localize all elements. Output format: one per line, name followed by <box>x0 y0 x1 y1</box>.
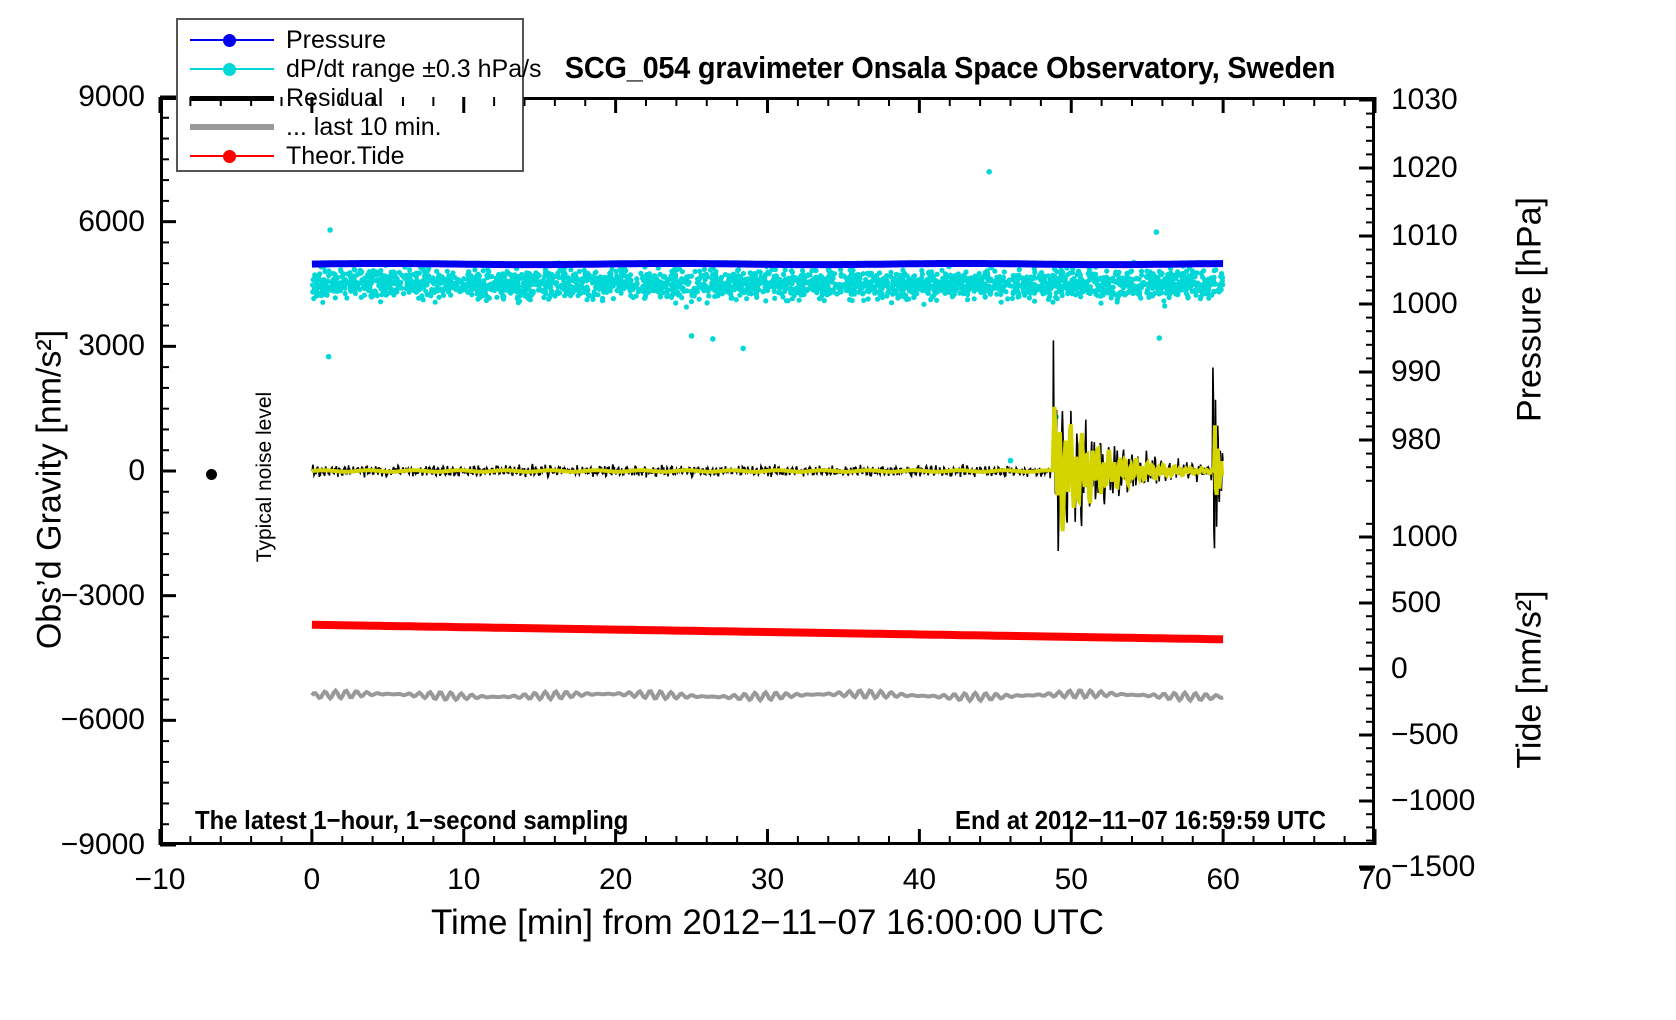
x-tick: 30 <box>708 865 828 895</box>
y-tick-tide: −1000 <box>1391 786 1475 816</box>
legend-item-last10[interactable]: ... last 10 min. <box>178 113 522 141</box>
y-tick-tide: 1000 <box>1391 522 1458 552</box>
y-tick-tide: −500 <box>1391 720 1459 750</box>
legend-swatch-theortide <box>178 142 286 170</box>
noise-level-annotation: Typical noise level <box>253 362 277 592</box>
x-tick: 0 <box>252 865 372 895</box>
x-tick: −10 <box>100 865 220 895</box>
legend-swatch-pressure <box>178 26 286 54</box>
legend-swatch-dpdt <box>178 55 286 83</box>
y-tick-pressure: 1020 <box>1391 153 1458 183</box>
y-tick-pressure: 1000 <box>1391 289 1458 319</box>
y-tick-left: 0 <box>0 456 145 486</box>
y-tick-pressure: 980 <box>1391 425 1441 455</box>
x-tick: 40 <box>859 865 979 895</box>
legend-label-dpdt: dP/dt range ±0.3 hPa/s <box>286 57 542 82</box>
legend: Pressure dP/dt range ±0.3 hPa/s Residual… <box>176 18 524 172</box>
y-tick-left: −6000 <box>0 705 145 735</box>
legend-item-pressure[interactable]: Pressure <box>178 26 522 54</box>
y-tick-pressure: 990 <box>1391 357 1441 387</box>
plot-frame <box>160 97 1375 845</box>
x-tick: 50 <box>1011 865 1131 895</box>
legend-swatch-residual <box>178 84 286 112</box>
x-tick: 10 <box>404 865 524 895</box>
y-tick-left: 9000 <box>0 82 145 112</box>
y-axis-left-label: Obs’d Gravity [nm/s²] <box>31 210 70 770</box>
legend-swatch-last10 <box>178 113 286 141</box>
y-tick-pressure: 1030 <box>1391 85 1458 115</box>
legend-label-theortide: Theor.Tide <box>286 144 405 169</box>
legend-label-last10: ... last 10 min. <box>286 115 442 140</box>
x-axis-label: Time [min] from 2012−11−07 16:00:00 UTC <box>160 903 1375 943</box>
legend-label-residual: Residual <box>286 86 383 111</box>
y-tick-tide: 0 <box>1391 654 1408 684</box>
x-tick: 70 <box>1315 865 1435 895</box>
end-time-note: End at 2012−11−07 16:59:59 UTC <box>955 805 1326 836</box>
legend-item-residual[interactable]: Residual <box>178 84 522 112</box>
y-tick-left: −3000 <box>0 581 145 611</box>
y-axis-tide-label: Tide [nm/s²] <box>1511 470 1550 890</box>
legend-label-pressure: Pressure <box>286 28 386 53</box>
x-tick: 20 <box>556 865 676 895</box>
legend-item-dpdt[interactable]: dP/dt range ±0.3 hPa/s <box>178 55 522 83</box>
legend-item-theortide[interactable]: Theor.Tide <box>178 142 522 170</box>
y-axis-pressure-label: Pressure [hPa] <box>1511 100 1550 520</box>
y-tick-pressure: 1010 <box>1391 221 1458 251</box>
y-tick-left: 3000 <box>0 331 145 361</box>
y-tick-tide: 500 <box>1391 588 1441 618</box>
y-tick-left: −9000 <box>0 830 145 860</box>
gravimeter-plot: SCG_054 gravimeter Onsala Space Observat… <box>0 0 1676 1020</box>
x-tick: 60 <box>1163 865 1283 895</box>
noise-level-marker <box>206 469 217 480</box>
sampling-note: The latest 1−hour, 1−second sampling <box>195 805 628 836</box>
y-tick-left: 6000 <box>0 207 145 237</box>
page-title: SCG_054 gravimeter Onsala Space Observat… <box>550 50 1350 86</box>
